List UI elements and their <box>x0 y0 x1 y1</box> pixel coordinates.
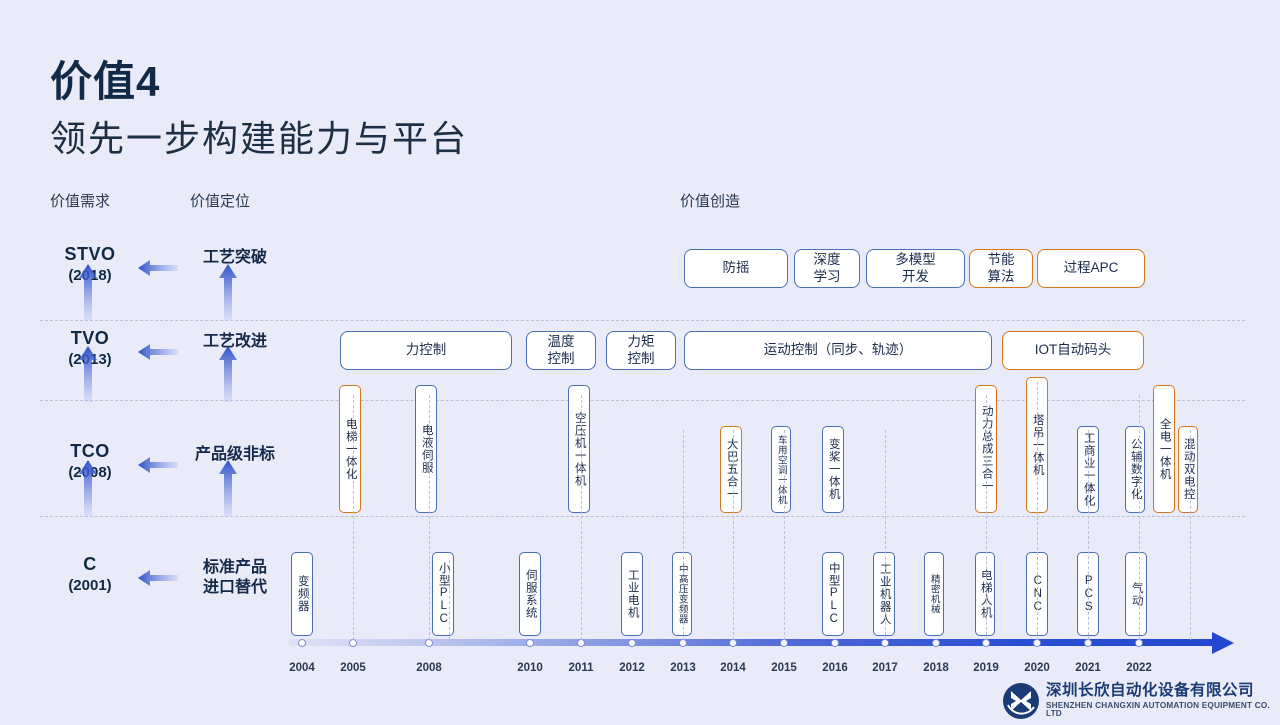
timeline-dot <box>881 639 889 647</box>
capability-box-label: 工业机器人 <box>874 553 894 635</box>
capability-box-label: 多模型开发 <box>895 252 936 285</box>
capability-box-label: 动力总成三合一 <box>976 386 996 512</box>
capability-box-label: 变桨一体机 <box>823 427 843 512</box>
timeline-bar <box>288 639 1218 646</box>
timeline-dot <box>1033 639 1041 647</box>
capability-box[interactable]: 电液伺服 <box>415 385 437 513</box>
capability-box-label: 大巴五合一 <box>721 427 741 512</box>
capability-box[interactable]: PCS <box>1077 552 1099 636</box>
timeline-year-label: 2015 <box>771 662 797 674</box>
capability-box[interactable]: 精密机械 <box>924 552 944 636</box>
capability-box[interactable]: 电梯一体化 <box>339 385 361 513</box>
timeline-year-label: 2005 <box>340 662 366 674</box>
timeline-dot <box>628 639 636 647</box>
capability-box-label: 电梯人机 <box>976 553 994 635</box>
capability-box-label: 温度控制 <box>548 334 575 367</box>
capability-box-label: 中高压变频器 <box>673 553 691 635</box>
capability-box[interactable]: 电梯人机 <box>975 552 995 636</box>
capability-box[interactable]: IOT自动码头 <box>1002 331 1144 370</box>
timeline-year-label: 2004 <box>289 662 315 674</box>
capability-box[interactable]: 深度学习 <box>794 249 860 288</box>
row-divider <box>40 516 1245 517</box>
capability-box[interactable]: 伺服系统 <box>519 552 541 636</box>
capability-box[interactable]: 温度控制 <box>526 331 596 370</box>
capability-box[interactable]: 变桨一体机 <box>822 426 844 513</box>
column-header-creation: 价值创造 <box>680 190 740 211</box>
timeline-dot <box>982 639 990 647</box>
timeline-year-label: 2010 <box>517 662 543 674</box>
capability-box[interactable]: 力控制 <box>340 331 512 370</box>
capability-box-label: 混动双电控 <box>1179 427 1197 512</box>
capability-box[interactable]: 工业电机 <box>621 552 643 636</box>
capability-box-label: 力控制 <box>406 342 447 358</box>
timeline-dot <box>679 639 687 647</box>
capability-box[interactable]: 中型PLC <box>822 552 844 636</box>
capability-box-label: CNC <box>1027 553 1047 635</box>
capability-box-label: 精密机械 <box>925 553 943 635</box>
capability-box[interactable]: CNC <box>1026 552 1048 636</box>
capability-box[interactable]: 力矩控制 <box>606 331 676 370</box>
logo-text-cn: 深圳长欣自动化设备有限公司 <box>1046 683 1280 699</box>
capability-box[interactable]: 车用空调一体机 <box>771 426 791 513</box>
capability-box[interactable]: 气动 <box>1125 552 1147 636</box>
row-label-year: (2001) <box>35 577 145 594</box>
timeline-dot <box>425 639 433 647</box>
capability-box[interactable]: 运动控制（同步、轨迹） <box>684 331 992 370</box>
timeline-dot <box>932 639 940 647</box>
capability-box[interactable]: 大巴五合一 <box>720 426 742 513</box>
timeline-dot <box>729 639 737 647</box>
capability-box-label: 空压机一体机 <box>569 386 589 512</box>
timeline-year-label: 2013 <box>670 662 696 674</box>
capability-box-label: 运动控制（同步、轨迹） <box>764 342 913 358</box>
column-header-position: 价值定位 <box>190 190 250 211</box>
row-label-c: C(2001) <box>35 554 145 594</box>
timeline-dot <box>1135 639 1143 647</box>
capability-box-label: 变频器 <box>292 553 312 635</box>
capability-box-label: 气动 <box>1126 553 1146 635</box>
timeline-dot <box>1084 639 1092 647</box>
timeline-year-label: 2022 <box>1126 662 1152 674</box>
capability-box-label: IOT自动码头 <box>1035 342 1112 358</box>
timeline-year-label: 2014 <box>720 662 746 674</box>
capability-box-label: 电梯一体化 <box>340 386 360 512</box>
arrow-up-icon <box>79 344 97 404</box>
logo-text-en: SHENZHEN CHANGXIN AUTOMATION EQUIPMENT C… <box>1046 702 1280 719</box>
capability-box[interactable]: 公辅数字化 <box>1125 426 1145 513</box>
capability-box-label: 塔吊一体机 <box>1027 378 1047 512</box>
capability-box-label: 力矩控制 <box>628 334 655 367</box>
capability-box-label: 工商业一体化 <box>1078 427 1098 512</box>
capability-box-label: 公辅数字化 <box>1126 427 1144 512</box>
company-logo: 深圳长欣自动化设备有限公司 SHENZHEN CHANGXIN AUTOMATI… <box>1002 682 1280 720</box>
arrow-up-icon <box>219 262 237 322</box>
capability-box[interactable]: 全电一体机 <box>1153 385 1175 513</box>
capability-box-label: 车用空调一体机 <box>772 427 790 512</box>
capability-box-label: 中型PLC <box>823 553 843 635</box>
capability-box[interactable]: 工业机器人 <box>873 552 895 636</box>
timeline-year-label: 2020 <box>1024 662 1050 674</box>
timeline-year-label: 2011 <box>569 662 594 674</box>
timeline-arrowhead-icon <box>1212 632 1234 654</box>
column-header-need: 价值需求 <box>50 190 110 211</box>
capability-box[interactable]: 多模型开发 <box>866 249 965 288</box>
capability-box-label: PCS <box>1078 553 1098 635</box>
capability-box[interactable]: 空压机一体机 <box>568 385 590 513</box>
capability-box[interactable]: 节能算法 <box>969 249 1033 288</box>
capability-box[interactable]: 动力总成三合一 <box>975 385 997 513</box>
capability-box[interactable]: 过程APC <box>1037 249 1145 288</box>
row-label-name: C <box>35 554 145 575</box>
capability-box[interactable]: 中高压变频器 <box>672 552 692 636</box>
timeline-year-label: 2008 <box>416 662 442 674</box>
capability-box[interactable]: 小型PLC <box>432 552 454 636</box>
timeline-dot <box>780 639 788 647</box>
capability-box-label: 电液伺服 <box>416 386 436 512</box>
capability-box[interactable]: 混动双电控 <box>1178 426 1198 513</box>
slide-canvas: 价值4 领先一步构建能力与平台 价值需求 价值定位 价值创造 STVO(2018… <box>0 0 1280 719</box>
timeline-dot <box>526 639 534 647</box>
capability-box-label: 节能算法 <box>988 252 1015 285</box>
timeline-year-label: 2012 <box>619 662 645 674</box>
capability-box[interactable]: 塔吊一体机 <box>1026 377 1048 513</box>
timeline-dot <box>349 639 357 647</box>
row-positioning-c: 标准产品进口替代 <box>170 558 300 598</box>
capability-box-label: 伺服系统 <box>520 553 540 635</box>
capability-box[interactable]: 防摇 <box>684 249 788 288</box>
capability-box-label: 全电一体机 <box>1154 386 1174 512</box>
capability-box-label: 深度学习 <box>814 252 841 285</box>
timeline-year-label: 2016 <box>822 662 848 674</box>
capability-box-label: 小型PLC <box>433 553 453 635</box>
timeline-year-label: 2019 <box>973 662 999 674</box>
capability-box-label: 防摇 <box>723 260 750 276</box>
capability-box-label: 工业电机 <box>622 553 642 635</box>
row-divider <box>40 320 1245 321</box>
row-divider <box>40 400 1245 401</box>
arrow-up-icon <box>219 458 237 518</box>
capability-box-label: 过程APC <box>1064 260 1119 276</box>
timeline-dot <box>577 639 585 647</box>
page-subtitle: 领先一步构建能力与平台 <box>50 110 468 162</box>
arrow-up-icon <box>79 458 97 518</box>
arrow-up-icon <box>79 262 97 322</box>
page-title: 价值4 <box>50 48 160 109</box>
timeline-year-label: 2017 <box>872 662 898 674</box>
timeline-year-label: 2021 <box>1075 662 1101 674</box>
logo-mark-icon <box>1002 682 1040 720</box>
capability-box[interactable]: 工商业一体化 <box>1077 426 1099 513</box>
timeline-dot <box>298 639 306 647</box>
timeline-dot <box>831 639 839 647</box>
timeline-year-label: 2018 <box>923 662 949 674</box>
capability-box[interactable]: 变频器 <box>291 552 313 636</box>
arrow-up-icon <box>219 344 237 404</box>
